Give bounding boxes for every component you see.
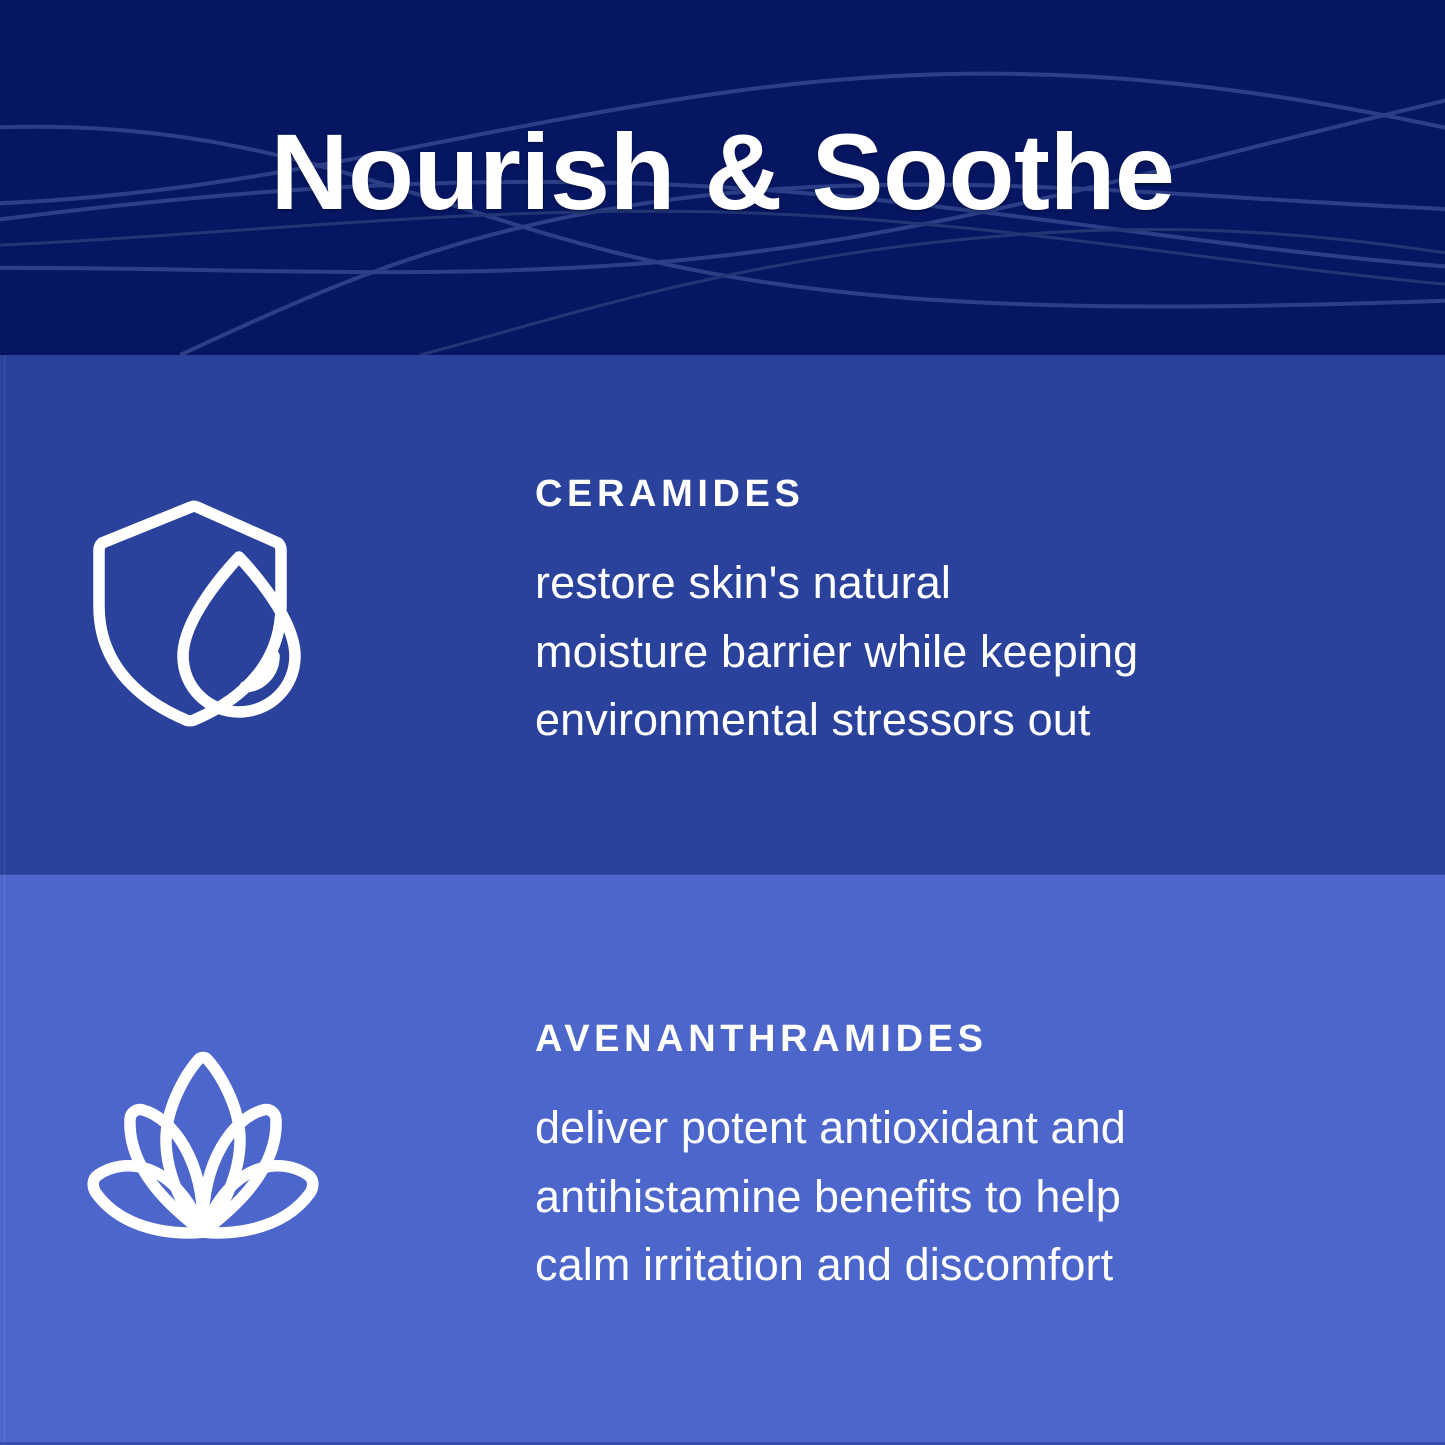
avenanthramides-body-line-3: calm irritation and discomfort: [535, 1231, 1315, 1299]
avenanthramides-text-container: AVENANTHRAMIDES deliver potent antioxida…: [535, 1020, 1445, 1299]
ceramides-icon-container: [0, 496, 535, 734]
ceramides-body-line-3: environmental stressors out: [535, 686, 1315, 754]
ingredient-benefits-infographic: Nourish & Soothe CERAMIDES restore skin'…: [0, 0, 1445, 1445]
ceramides-body: restore skin's naturalmoisture barrier w…: [535, 549, 1315, 754]
shield-droplet-icon: [88, 496, 328, 728]
avenanthramides-body-line-2: antihistamine benefits to help: [535, 1163, 1315, 1231]
ceramides-body-line-2: moisture barrier while keeping: [535, 618, 1315, 686]
lotus-flower-icon: [68, 1045, 338, 1245]
avenanthramides-body-line-1: deliver potent antioxidant and: [535, 1094, 1315, 1162]
header-banner: Nourish & Soothe: [0, 0, 1445, 355]
ceramides-heading: CERAMIDES: [535, 475, 1315, 515]
page-title: Nourish & Soothe: [0, 0, 1445, 355]
avenanthramides-body: deliver potent antioxidant andantihistam…: [535, 1094, 1315, 1299]
ceramides-text-container: CERAMIDES restore skin's naturalmoisture…: [535, 475, 1445, 754]
section-ceramides: CERAMIDES restore skin's naturalmoisture…: [0, 355, 1445, 875]
avenanthramides-icon-container: [0, 1045, 535, 1275]
avenanthramides-heading: AVENANTHRAMIDES: [535, 1020, 1315, 1060]
section-avenanthramides: AVENANTHRAMIDES deliver potent antioxida…: [0, 875, 1445, 1445]
left-edge-rule: [4, 355, 5, 1445]
ceramides-body-line-1: restore skin's natural: [535, 549, 1315, 617]
